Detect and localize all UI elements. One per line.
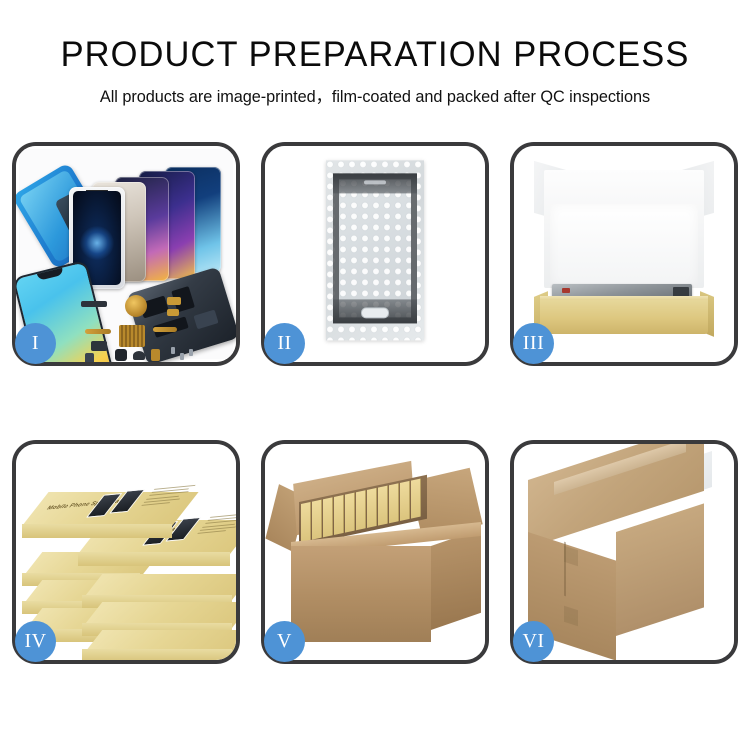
page-subtitle: All products are image-printed，film-coat… [0,74,750,107]
inner-box-open-icon [530,160,718,340]
open-outer-carton-icon [275,470,477,642]
step-badge-5: V [264,621,305,662]
step-panel-3: III Unit placed in foam-lined kraft inne… [510,142,738,366]
step-panel-6: VI Outer carton taped and sealed for shi… [510,440,738,664]
step-badge-3: III [513,323,554,364]
step-panel-4: Mobile Phone Spare Parts [12,440,240,664]
step-panel-5: V Inner boxes loaded into outer carton [261,440,489,664]
step-badge-4: IV [15,621,56,662]
step-panel-2: II Screen wrapped in bubble film [261,142,489,366]
page-title: PRODUCT PREPARATION PROCESS [6,0,745,74]
step-badge-1: I [15,323,56,364]
bubble-wrapped-screen-icon [326,160,424,340]
step-badge-6: VI [513,621,554,662]
steps-grid: I Assorted mobile phone LCD screens and … [12,142,738,682]
step-panel-1: I Assorted mobile phone LCD screens and … [12,142,240,366]
spare-parts-cluster [81,295,211,362]
stacked-inner-boxes-icon: Mobile Phone Spare Parts [22,456,230,652]
step-badge-2: II [264,323,305,364]
product-preparation-infographic: PRODUCT PREPARATION PROCESS All products… [0,0,750,750]
step-caption-1: Assorted mobile phone LCD screens and sp… [16,146,17,147]
header: PRODUCT PREPARATION PROCESS All products… [0,0,750,107]
sealed-outer-carton-icon [528,470,722,638]
